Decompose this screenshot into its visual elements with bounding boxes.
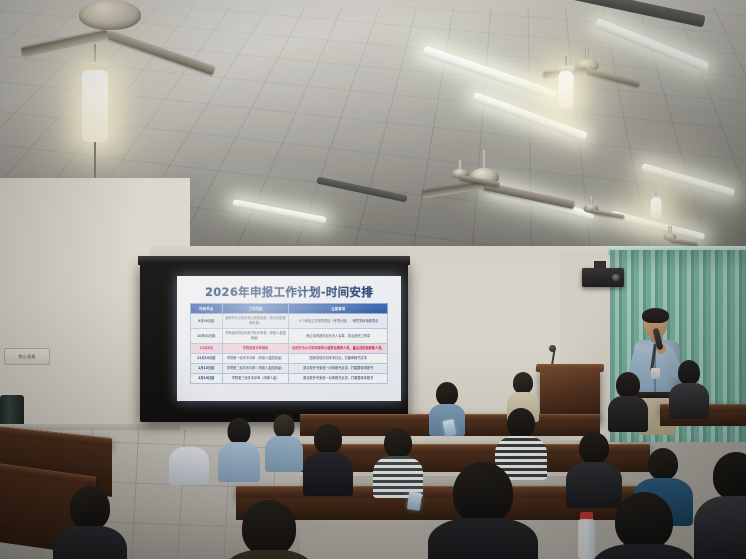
cell-note: 六个转化正式研究项目（专项计划），研究学科领域重点	[289, 314, 388, 329]
pendant-lamp-2	[556, 56, 576, 136]
person-torso	[694, 496, 746, 559]
audience-person-foreground	[234, 500, 304, 559]
table-body: 9月30日前 各研究中心报送重点申报选题（重点实验室预申报） 六个转化正式研究项…	[191, 314, 388, 384]
audience-person	[378, 428, 418, 490]
table-row: 9月30日前 各研究中心报送重点申报选题（重点实验室预申报） 六个转化正式研究项…	[191, 314, 388, 329]
cell-note: 确立拟申报项目负责人名单，重点改完工作章	[289, 329, 388, 344]
cell-note: 邀请校外专家逐一对申报书点评，打磨整体申报书	[289, 373, 388, 383]
smartphone-screen[interactable]	[407, 491, 422, 511]
person-head	[579, 432, 609, 464]
table-row: 2月15日前 学院第三轮学术评审（申报人盖） 邀请校外专家逐一对申报书点评，打磨…	[191, 373, 388, 383]
person-torso	[428, 518, 538, 559]
person-head	[648, 448, 678, 480]
person-head	[274, 414, 295, 438]
presenter-hair	[642, 308, 669, 323]
projector-bracket	[594, 261, 606, 269]
cell-task: 学院组织项目申报书初步审核（申报人盖国家级）	[222, 329, 289, 344]
person-head	[713, 452, 746, 500]
slide-title: 2026年申报工作计划-时间安排	[177, 284, 401, 300]
col-header-time: 时间节点	[191, 304, 223, 314]
cell-time: 9月30日前	[191, 314, 223, 329]
audience-person	[308, 424, 348, 488]
person-head	[615, 492, 673, 550]
audience-person-foreground	[706, 452, 746, 559]
cell-task: 各研究中心报送重点申报选题（重点实验室预申报）	[222, 314, 289, 329]
audience-person	[222, 418, 256, 474]
pendant-lamp-3	[648, 190, 664, 240]
cell-time: 11月8日	[191, 343, 223, 353]
cell-task: 学院第一轮学术评审（申报人盖国家级）	[222, 353, 289, 363]
person-head	[616, 372, 640, 398]
person-head	[70, 486, 110, 530]
person-head	[507, 408, 535, 438]
cell-task: 学院第二轮学术评审（申报人盖国家级）	[222, 363, 289, 373]
cell-task: 学院第三轮学术评审（申报人盖）	[222, 373, 289, 383]
ceiling-fan-1	[30, 0, 190, 70]
person-torso	[592, 544, 696, 559]
cell-time: 12月15日前	[191, 353, 223, 363]
audience-person-foreground	[62, 486, 118, 559]
audience-person	[672, 360, 706, 414]
lecture-hall-photo: 禁止吸烟 2026年申报工作计划-时间安排 时间节点 工作内容 注意事项	[0, 0, 746, 559]
person-torso	[265, 436, 303, 472]
audience-person	[172, 424, 206, 480]
podium-microphone-icon	[549, 345, 556, 352]
cell-note: 国家领域方向学术讨论，打磨申报书文本	[289, 353, 388, 363]
col-header-task: 工作内容	[222, 304, 289, 314]
water-bottle	[578, 519, 595, 559]
presenter-badge	[651, 368, 660, 379]
person-torso	[218, 442, 260, 482]
ceiling-fan-5	[420, 160, 500, 194]
person-head	[178, 424, 200, 449]
ceiling-fan-4	[532, 48, 642, 92]
cell-task: 学院考核评审细则	[222, 343, 289, 353]
projected-slide: 2026年申报工作计划-时间安排 时间节点 工作内容 注意事项 9月30日前 各…	[177, 276, 401, 401]
person-head	[678, 360, 700, 385]
person-torso	[223, 550, 315, 559]
audience-person	[268, 414, 300, 466]
person-torso	[303, 452, 353, 496]
cell-note: 各研究中心与学科领导小组联合推荐人员，重点决定拟资助人员。	[289, 343, 388, 353]
table-row: 1月15日前 学院第二轮学术评审（申报人盖国家级） 邀请校外专家逐一对申报书点评…	[191, 363, 388, 373]
person-torso	[669, 383, 709, 419]
cell-time: 2月15日前	[191, 373, 223, 383]
cell-note: 邀请校外专家逐一对申报书点评，打磨整体申报书	[289, 363, 388, 373]
audience-person-foreground	[604, 492, 684, 559]
wall-sign-label: 禁止吸烟	[18, 354, 35, 360]
cell-time: 10月31日前	[191, 329, 223, 344]
ceiling-fan-6	[556, 196, 626, 226]
person-head	[453, 462, 513, 524]
presentation-display[interactable]: 2026年申报工作计划-时间安排 时间节点 工作内容 注意事项 9月30日前 各…	[140, 262, 408, 422]
lectern	[540, 368, 600, 420]
table-row: 10月31日前 学院组织项目申报书初步审核（申报人盖国家级） 确立拟申报项目负责…	[191, 329, 388, 344]
person-torso	[608, 396, 648, 432]
col-header-note: 注意事项	[289, 304, 388, 314]
person-torso	[53, 526, 127, 559]
person-head	[384, 428, 412, 458]
person-head	[228, 418, 251, 444]
table-header-row: 时间节点 工作内容 注意事项	[191, 304, 388, 314]
person-head	[314, 424, 342, 454]
projector-lens-icon	[612, 274, 620, 281]
audience-person	[610, 372, 646, 428]
cell-time: 1月15日前	[191, 363, 223, 373]
table-row: 12月15日前 学院第一轮学术评审（申报人盖国家级） 国家领域方向学术讨论，打磨…	[191, 353, 388, 363]
audience-person-foreground	[440, 462, 526, 559]
slide-schedule-table: 时间节点 工作内容 注意事项 9月30日前 各研究中心报送重点申报选题（重点实验…	[190, 303, 388, 384]
wall-sign: 禁止吸烟	[4, 348, 50, 365]
ceiling-projector-icon	[582, 268, 624, 287]
person-head	[513, 372, 533, 394]
person-torso	[169, 447, 209, 485]
person-head	[436, 382, 458, 406]
table-row-highlighted: 11月8日 学院考核评审细则 各研究中心与学科领导小组联合推荐人员，重点决定拟资…	[191, 343, 388, 353]
person-head	[242, 500, 296, 556]
pendant-lamp-1	[80, 44, 110, 194]
